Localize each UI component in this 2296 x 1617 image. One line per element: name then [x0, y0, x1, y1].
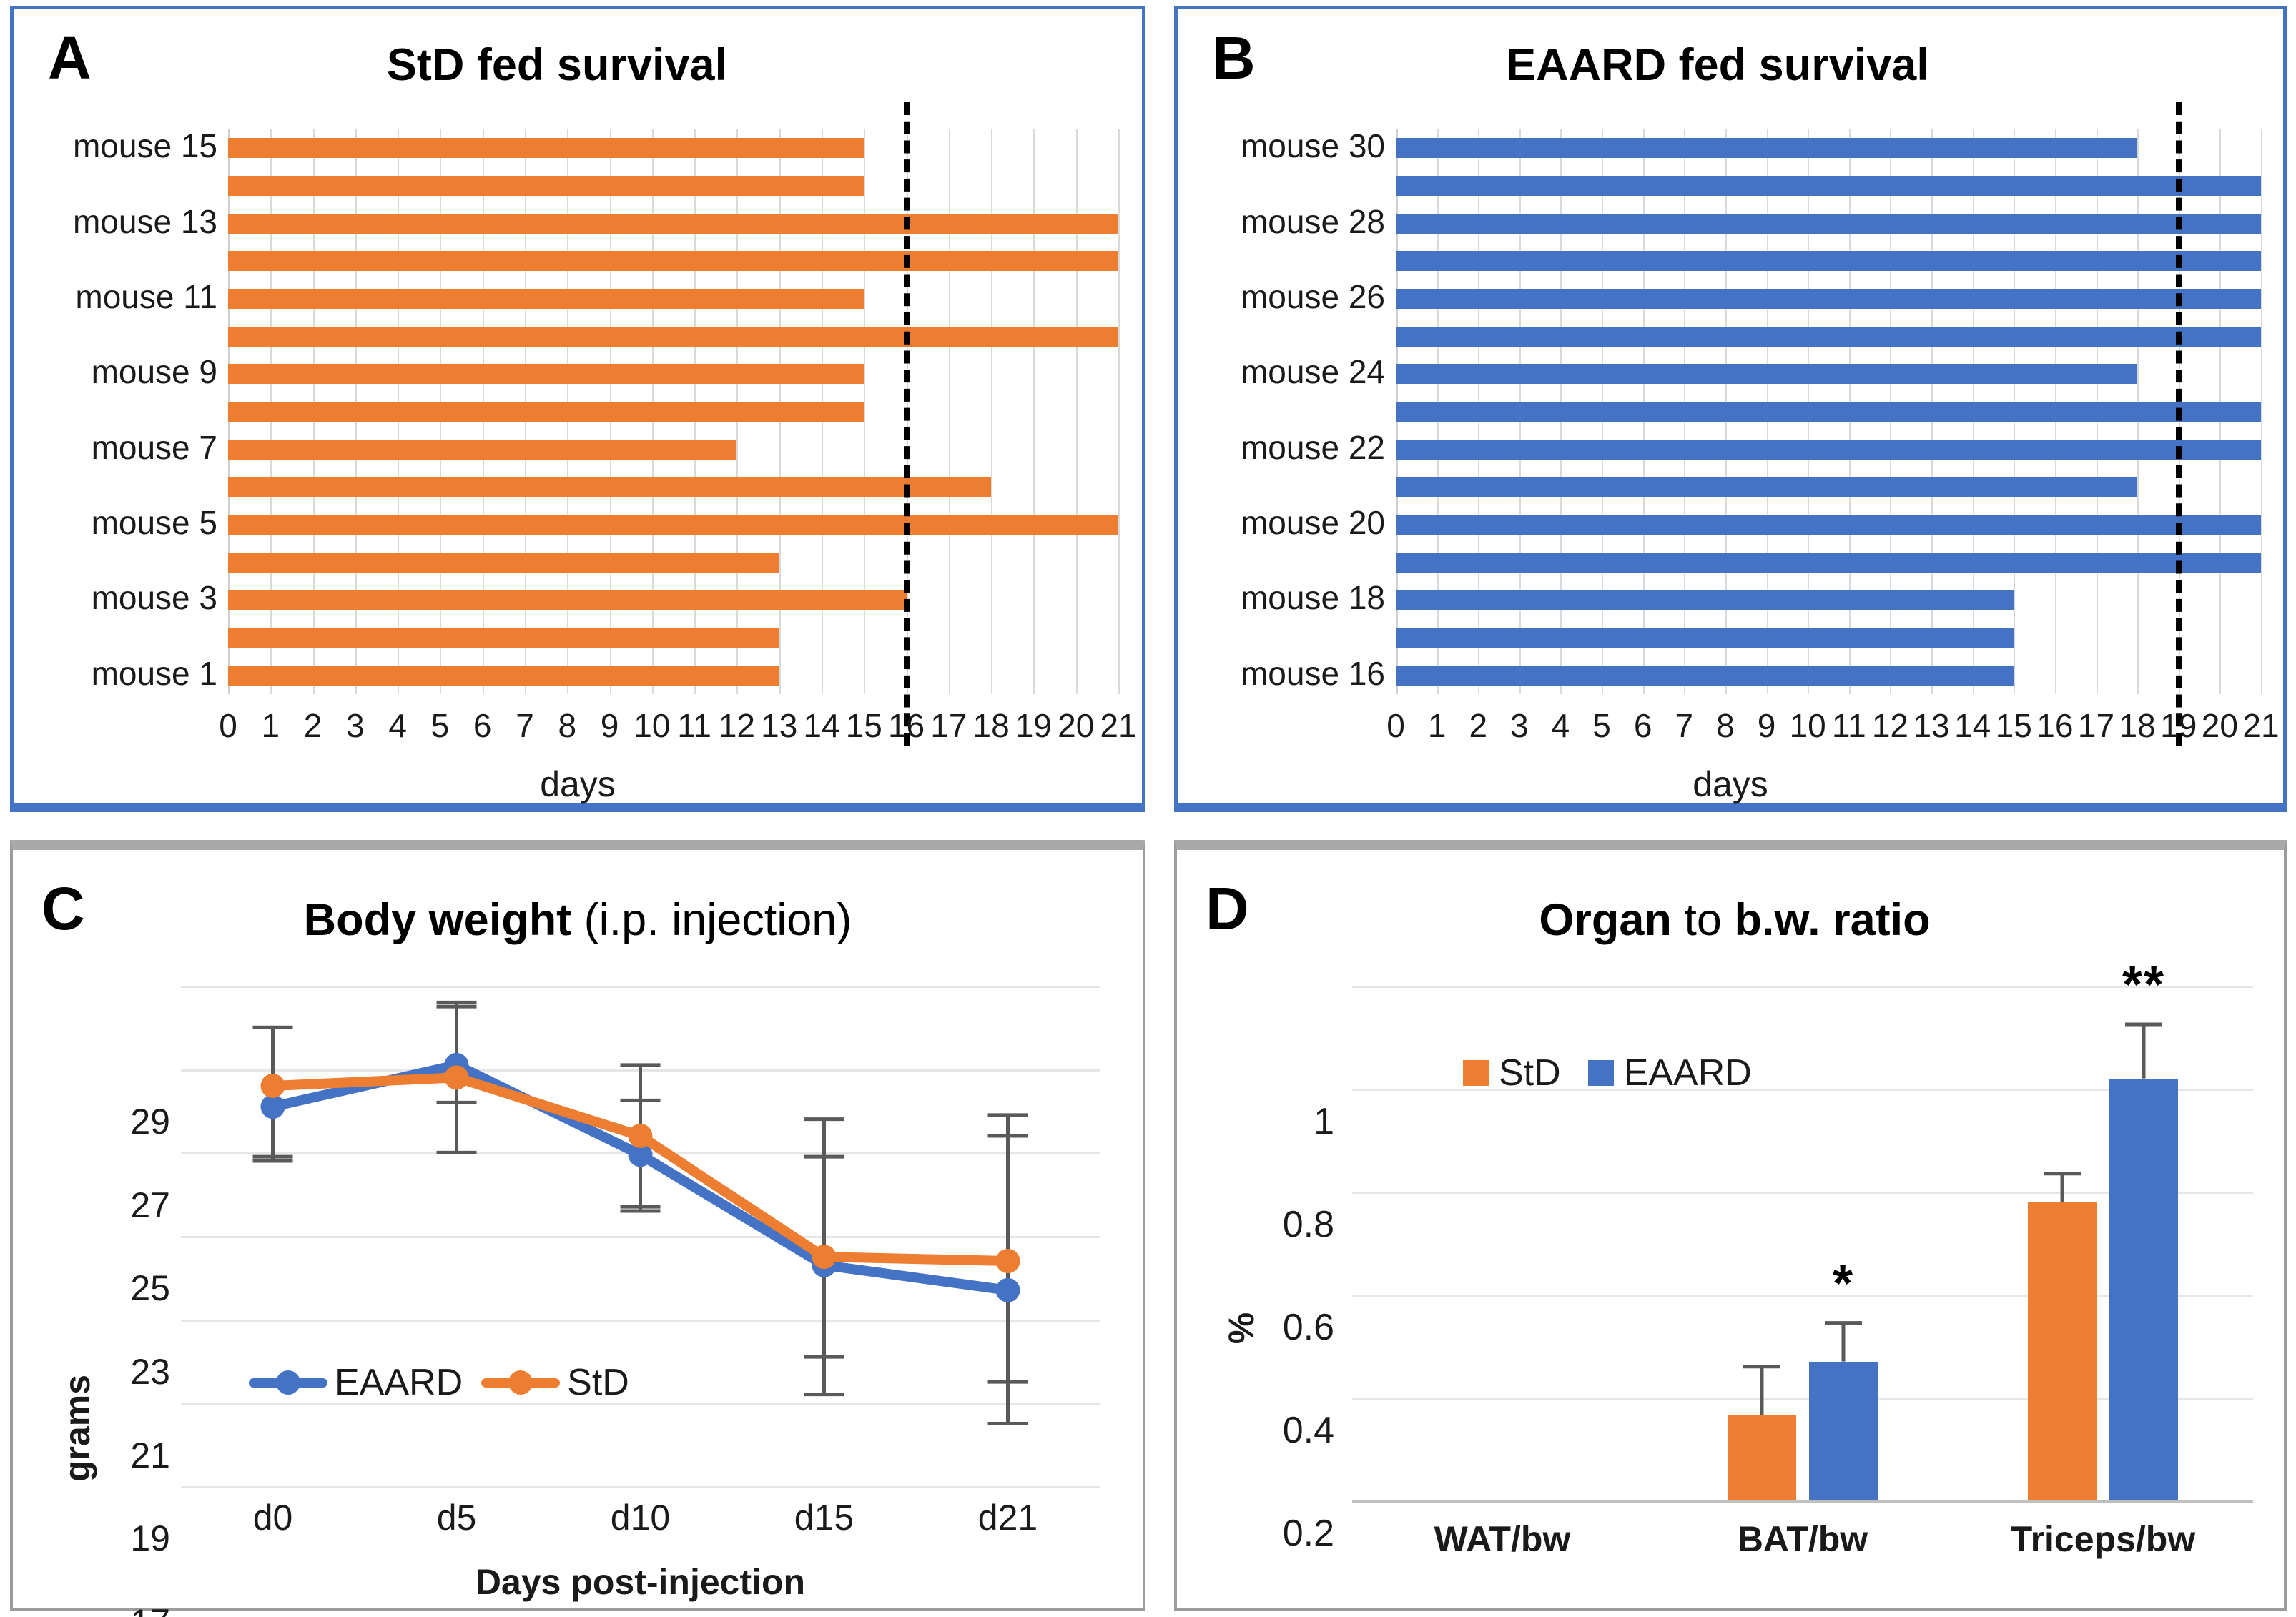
y-tick-label: mouse 13: [73, 202, 217, 241]
survival-bar: [1396, 628, 2014, 648]
panel-c-x-axis-title: Days post-injection: [181, 1561, 1100, 1603]
y-tick-label: mouse 18: [1241, 578, 1385, 617]
panel-d-legend: StDEAARD: [1463, 1052, 1752, 1094]
x-tick-label: 21: [1100, 706, 1136, 745]
x-tick-label: 4: [1552, 706, 1570, 745]
gridline-y: [181, 1486, 1100, 1488]
x-tick-label: 15: [1996, 706, 2032, 745]
x-tick-label: 9: [1758, 706, 1776, 745]
gridline-day-21: [2261, 129, 2262, 694]
x-tick-label: 19: [2160, 706, 2197, 745]
survival-bar: [1396, 327, 2261, 347]
panel-d-title: Organ to b.w. ratio: [1341, 894, 2128, 946]
y-tick-label: mouse 22: [1241, 428, 1385, 467]
x-tick-label: d5: [437, 1497, 477, 1538]
y-tick-label: 27: [130, 1185, 170, 1226]
x-tick-label: 6: [1634, 706, 1652, 745]
y-tick-label: 0.2: [1283, 1512, 1334, 1555]
panel-c-letter: C: [41, 879, 85, 939]
panel-b-eaard-survival: B EAARD fed survival mouse 30mouse 28mou…: [1174, 6, 2287, 812]
panel-b-plot-area: [1396, 129, 2261, 694]
x-tick-label: d10: [611, 1497, 670, 1538]
x-tick-label: 14: [1954, 706, 1991, 745]
x-tick-label: 7: [1675, 706, 1694, 745]
x-tick-label: d21: [978, 1497, 1038, 1538]
x-tick-label: 13: [1913, 706, 1949, 745]
y-tick-label: 25: [130, 1267, 170, 1309]
x-tick-label: 2: [304, 706, 322, 745]
y-tick-label: mouse 9: [92, 352, 217, 391]
survival-bar: [1396, 553, 2261, 573]
panel-c-title-light: (i.p. injection): [571, 895, 852, 945]
y-tick-label: 0.4: [1283, 1409, 1334, 1452]
survival-bar: [228, 214, 1118, 234]
gridline-y: [1352, 1500, 2253, 1503]
panel-b-x-tick-labels: 0123456789101112131415161718192021: [1396, 706, 2261, 756]
bar-std: [2028, 1202, 2097, 1500]
panel-d-letter: D: [1206, 879, 1249, 939]
significance-marker: *: [1833, 1255, 1854, 1313]
panel-b-x-axis-title: days: [1178, 763, 2283, 805]
panel-c-title-bold: Body weight: [304, 895, 572, 945]
x-tick-label: 0: [1386, 706, 1405, 745]
x-tick-label: d0: [253, 1497, 293, 1538]
legend-item[interactable]: EAARD: [1588, 1052, 1752, 1094]
panel-c-y-tick-labels: 17192123252729: [77, 986, 170, 1486]
panel-d-title-bold-1: Organ: [1539, 895, 1672, 945]
survival-bar: [1396, 440, 2261, 460]
x-tick-label: 5: [431, 706, 450, 745]
survival-bar: [1396, 364, 2137, 384]
survival-bar: [228, 477, 991, 497]
y-tick-label: mouse 7: [92, 428, 217, 467]
x-tick-label: 10: [1790, 706, 1826, 745]
survival-bar: [228, 138, 864, 158]
survival-bar: [1396, 666, 2014, 686]
survival-bar: [228, 251, 1118, 271]
legend-swatch-icon: [1588, 1060, 1614, 1086]
x-tick-label: 9: [601, 706, 619, 745]
survival-bar: [228, 628, 779, 648]
legend-label: EAARD: [335, 1361, 463, 1404]
figure-root: A StD fed survival mouse 15mouse 13mouse…: [0, 0, 2296, 1617]
x-tick-label: 8: [1716, 706, 1735, 745]
y-tick-label: 21: [130, 1435, 170, 1476]
bar-eaard: [1809, 1362, 1878, 1500]
x-tick-label: 2: [1469, 706, 1487, 745]
panel-a-x-axis-title: days: [14, 763, 1142, 805]
x-tick-label: 12: [719, 706, 755, 745]
survival-bar: [1396, 590, 2014, 610]
x-tick-label: 11: [677, 706, 711, 745]
y-tick-label: mouse 1: [92, 654, 217, 693]
y-tick-label: mouse 28: [1241, 202, 1385, 241]
treatment-cutoff-dashed-line: [2176, 102, 2182, 746]
survival-bar: [1396, 289, 2261, 309]
x-tick-label: 18: [973, 706, 1010, 745]
panel-b-letter: B: [1212, 28, 1256, 88]
legend-line-marker-icon: [249, 1378, 327, 1388]
x-tick-label: 13: [761, 706, 797, 745]
y-tick-label: mouse 5: [92, 503, 217, 542]
gridline-day-21: [1118, 129, 1120, 694]
y-tick-label: 17: [130, 1601, 170, 1617]
survival-bar: [1396, 477, 2137, 497]
x-tick-label: 8: [558, 706, 576, 745]
panel-a-letter: A: [48, 28, 92, 88]
legend-label: StD: [1499, 1052, 1561, 1094]
panel-d-y-tick-labels: 00.20.40.60.81: [1241, 986, 1334, 1500]
y-tick-label: 29: [130, 1101, 170, 1142]
panel-a-x-tick-labels: 0123456789101112131415161718192021: [228, 706, 1118, 756]
treatment-cutoff-dashed-line: [904, 102, 910, 746]
survival-bar: [228, 402, 864, 422]
legend-item[interactable]: StD: [1463, 1052, 1561, 1094]
legend-label: EAARD: [1624, 1052, 1752, 1094]
panel-b-y-tick-labels: mouse 30mouse 28mouse 26mouse 24mouse 22…: [1178, 127, 1385, 692]
x-tick-label: 0: [219, 706, 237, 745]
panel-a-plot-area: [228, 129, 1118, 694]
panel-c-legend: EAARDStD: [249, 1361, 629, 1404]
y-tick-label: 23: [130, 1351, 170, 1393]
survival-bar: [1396, 176, 2261, 196]
x-tick-label: 3: [1510, 706, 1529, 745]
x-tick-label: 10: [634, 706, 670, 745]
x-tick-label: 3: [346, 706, 365, 745]
panel-c-x-tick-labels: d0d5d10d15d21: [181, 1497, 1100, 1547]
survival-bar: [228, 590, 907, 610]
legend-swatch-icon: [1463, 1060, 1489, 1086]
bar-std: [1728, 1415, 1796, 1500]
x-tick-label: 16: [888, 706, 925, 745]
panel-a-y-tick-labels: mouse 15mouse 13mouse 11mouse 9mouse 7mo…: [14, 127, 217, 692]
x-tick-label: 1: [1428, 706, 1447, 745]
y-tick-label: mouse 15: [73, 127, 217, 165]
survival-bar: [1396, 138, 2137, 158]
survival-bar: [228, 515, 1118, 535]
panel-d-title-bold-2: b.w. ratio: [1734, 895, 1930, 945]
x-tick-label: 16: [2036, 706, 2073, 745]
legend-line-marker-icon: [481, 1378, 560, 1388]
y-tick-label: mouse 20: [1241, 503, 1385, 542]
x-tick-label: 18: [2119, 706, 2156, 745]
survival-bar: [228, 666, 779, 686]
y-tick-label: mouse 24: [1241, 352, 1385, 391]
x-tick-label: 1: [261, 706, 280, 745]
x-tick-label: 12: [1872, 706, 1908, 745]
y-tick-label: 0.8: [1283, 1203, 1334, 1246]
y-tick-label: mouse 16: [1241, 654, 1385, 693]
x-tick-label: 4: [388, 706, 407, 745]
x-tick-label: 6: [473, 706, 492, 745]
x-tick-label: 5: [1592, 706, 1611, 745]
x-tick-label: 17: [2078, 706, 2114, 745]
panel-d-title-light: to: [1672, 895, 1735, 945]
y-tick-label: 1: [1314, 1100, 1334, 1143]
y-tick-label: mouse 3: [92, 578, 217, 617]
survival-bar: [228, 289, 864, 309]
panel-d-x-tick-labels: WAT/bwBAT/bwTriceps/bw: [1352, 1518, 2253, 1568]
x-tick-label: 11: [1832, 706, 1866, 745]
x-group-label: WAT/bw: [1434, 1518, 1571, 1560]
x-tick-label: 14: [803, 706, 839, 745]
survival-bar: [1396, 402, 2261, 422]
x-tick-label: 20: [1058, 706, 1094, 745]
panel-a-title: StD fed survival: [199, 39, 915, 91]
y-tick-label: mouse 11: [75, 277, 217, 316]
x-tick-label: 21: [2242, 706, 2279, 745]
panel-c-body-weight: C Body weight (i.p. injection) grams 171…: [10, 840, 1145, 1611]
survival-bar: [228, 176, 864, 196]
panel-b-title: EAARD fed survival: [1342, 39, 2093, 91]
panel-c-title: Body weight (i.p. injection): [149, 894, 1007, 946]
significance-marker: **: [2122, 956, 2165, 1014]
y-tick-label: mouse 26: [1241, 277, 1385, 316]
x-group-label: Triceps/bw: [2011, 1518, 2195, 1560]
panel-c-plot-area: [181, 986, 1100, 1486]
x-tick-label: 19: [1015, 706, 1052, 745]
x-group-label: BAT/bw: [1738, 1518, 1868, 1560]
panel-c-series-svg: [181, 986, 1100, 1486]
legend-item[interactable]: EAARD: [249, 1361, 463, 1404]
legend-label: StD: [567, 1361, 629, 1404]
x-tick-label: 17: [930, 706, 967, 745]
x-tick-label: 7: [516, 706, 534, 745]
panel-a-std-survival: A StD fed survival mouse 15mouse 13mouse…: [10, 6, 1145, 812]
y-tick-label: mouse 30: [1241, 127, 1385, 165]
survival-bar: [1396, 251, 2261, 271]
x-tick-label: d15: [794, 1497, 854, 1538]
x-tick-label: 20: [2202, 706, 2238, 745]
survival-bar: [228, 327, 1118, 347]
x-tick-label: 15: [846, 706, 882, 745]
survival-bar: [228, 364, 864, 384]
survival-bar: [1396, 515, 2261, 535]
survival-bar: [228, 553, 779, 573]
legend-item[interactable]: StD: [481, 1361, 629, 1404]
panel-d-organ-ratio: D Organ to b.w. ratio % 00.20.40.60.81 S…: [1174, 840, 2287, 1611]
survival-bar: [1396, 214, 2261, 234]
bar-eaard: [2109, 1079, 2178, 1500]
y-tick-label: 19: [130, 1518, 170, 1559]
y-tick-label: 0.6: [1283, 1306, 1334, 1349]
survival-bar: [228, 440, 736, 460]
